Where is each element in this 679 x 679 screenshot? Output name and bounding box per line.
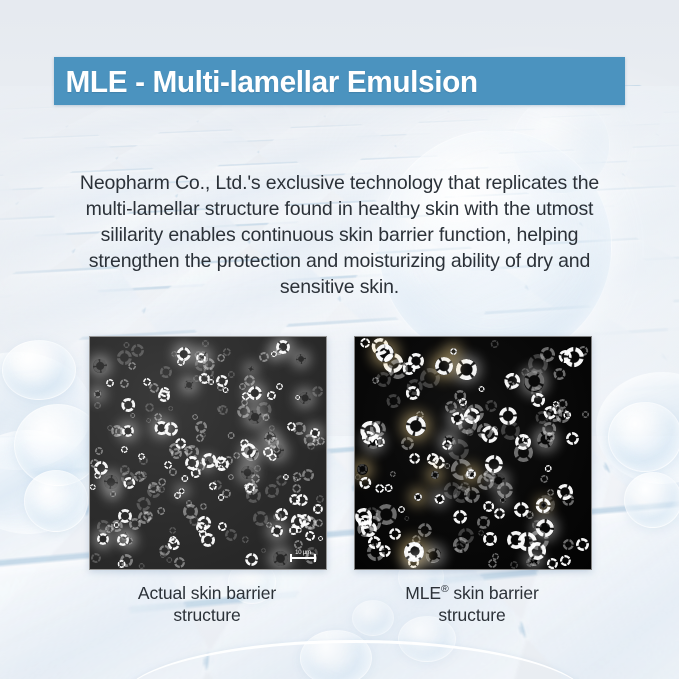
micrograph-particle [174,557,185,568]
micrograph-particle [540,475,548,483]
micrograph-particle [401,437,414,450]
title-banner: MLE - Multi-lamellar Emulsion [54,57,625,105]
micrograph-particle [158,478,166,486]
micrograph-particle [315,519,323,527]
micrograph-particle [118,560,126,568]
micrograph-particle [406,416,426,436]
micrograph-particle [485,400,497,412]
micrograph-particle [241,399,248,406]
caption-left-line1: Actual skin barrier [138,583,276,603]
micrograph-particle [435,357,453,375]
micrograph-particle [111,425,123,437]
micrograph-field-left [90,337,326,569]
micrograph-particle [409,453,420,464]
micrograph-particle [296,527,302,533]
micrograph-particle [491,340,499,348]
micrograph-particle [458,528,474,544]
micrograph-particle [193,375,200,382]
micrograph-particle [114,522,120,528]
micrograph-particle [137,497,151,511]
micrograph-particle [494,508,505,519]
micrograph-particle [90,484,96,490]
micrograph-particle [536,498,551,513]
micrograph-particle [244,484,249,489]
micrograph-particle [445,401,457,413]
micrograph-particle [94,402,101,409]
micrograph-particle [544,406,557,419]
micrograph-particle [228,474,234,480]
micrograph-particle [531,393,545,407]
figure-row: 10 µm [0,336,679,568]
micrograph-particle [537,431,554,448]
micrograph-particle [233,452,240,459]
micrograph-particle [121,398,135,412]
micrograph-particle [316,495,324,503]
micrograph-particle [244,446,259,461]
micrograph-particle [375,484,384,493]
micrograph-field-right [355,337,591,569]
micrograph-particle [212,480,222,490]
micrograph-particle [460,482,470,492]
micrograph-particle [276,383,283,390]
micrograph-particle [259,352,269,362]
description-paragraph: Neopharm Co., Ltd.'s exclusive technolog… [70,170,609,300]
micrograph-particle [117,534,129,546]
micrograph-particle [296,354,306,364]
micrograph-particle [192,414,198,420]
micrograph-particle [515,434,531,450]
micrograph-particle [464,408,480,424]
micrograph-particle [296,494,308,506]
caption-right-prefix: MLE [405,583,441,603]
micrograph-particle [499,407,517,425]
micrograph-particle [264,432,275,443]
micrograph-particle [184,380,194,390]
micrograph-particle [317,437,325,445]
micrograph-particle [547,489,554,496]
scale-bar-line [290,557,316,559]
micrograph-particle [453,510,467,524]
micrograph-particle [218,465,224,471]
micrograph-particle [269,425,275,431]
micrograph-particle [121,446,128,453]
micrograph-particle [191,468,201,478]
micrograph-particle [94,461,108,475]
micrograph-particle [120,379,129,388]
micrograph-particle [562,494,574,506]
micrograph-particle [312,386,323,397]
micrograph-particle [228,432,235,439]
micrograph-particle [218,522,227,531]
micrograph-particle [376,344,394,362]
micrograph-particle [385,484,393,492]
micrograph-particle [239,383,246,390]
micrograph-particle [251,474,260,483]
micrograph-particle [171,448,182,459]
micrograph-particle [130,413,135,418]
micrograph-particle [273,551,288,566]
micrograph-particle [276,348,283,355]
micrograph-particle [376,372,391,387]
micrograph-particle [122,425,134,437]
micrograph-particle [379,545,391,557]
micrograph-particle [293,422,306,435]
micrograph-particle [160,366,172,378]
micrograph-particle [387,394,401,408]
micrograph-particle [408,353,424,369]
micrograph-particle [450,348,457,355]
micrograph-particle [168,406,173,411]
micrograph-particle [524,371,544,391]
micrograph-particle [148,482,159,493]
micrograph-particle [95,447,103,455]
micrograph-particle [389,528,401,540]
micrograph-particle [143,378,151,386]
micrograph-particle [158,390,170,402]
micrograph-particle [578,346,588,356]
micrograph-particle [155,421,169,435]
micrograph-particle [404,516,409,521]
micrograph-particle [208,379,214,385]
caption-right-line2: structure [438,605,505,625]
caption-right: MLE® skin barrier structure [322,582,622,626]
micrograph-particle [357,464,367,474]
micrograph-particle [514,502,529,517]
micrograph-particle [261,548,266,553]
micrograph-particle [199,530,207,538]
caption-left: Actual skin barrier structure [57,582,357,626]
micrograph-particle [576,538,589,551]
micrograph-particle [169,527,176,534]
micrograph-particle [93,359,107,373]
micrograph-particle [359,477,371,489]
micrograph-particle [388,359,408,379]
micrograph-particle [491,426,498,433]
micrograph-particle [560,555,571,566]
micrograph-particle [444,482,461,499]
micrograph-particle [563,411,571,419]
micrograph-particle [528,542,546,560]
micrograph-particle [242,536,249,543]
scale-bar-label: 10 µm [290,549,316,557]
micrograph-particle [200,503,207,510]
micrograph-particle [131,344,144,357]
micrograph-particle [318,536,323,541]
micrograph-particle [444,463,450,469]
micrograph-particle [426,548,441,563]
micrograph-particle [299,392,311,404]
micrograph-particle [483,501,494,512]
micrograph-particle [456,359,477,380]
micrograph-particle [225,529,237,541]
micrograph-particle [360,338,370,348]
micrograph-particle [202,340,209,347]
micrograph-particle [181,475,188,482]
micrograph-particle [104,475,118,489]
micrograph-particle [154,413,162,421]
micrograph-particle [177,358,185,366]
micrograph-particle [479,386,485,392]
micrograph-particle [200,432,206,438]
micrograph-particle [293,477,298,482]
micrograph-particle [483,532,497,546]
micrograph-particle [431,471,439,479]
micrograph-particle [362,431,375,444]
caption-right-suffix: skin barrier [449,583,539,603]
figure-actual-skin-barrier-image: 10 µm [89,336,327,570]
micrograph-particle [506,381,515,390]
micrograph-particle [554,368,566,380]
micrograph-particle [477,516,490,529]
micrograph-particle [179,488,185,494]
micrograph-particle [146,418,151,423]
micrograph-particle [488,559,497,568]
micrograph-particle [196,353,206,363]
micrograph-particle [169,468,177,476]
micrograph-particle [406,386,420,400]
micrograph-particle [157,507,165,515]
micrograph-particle [271,525,283,537]
micrograph-particle [275,508,288,521]
figure-mle-skin-barrier-image [354,336,592,570]
micrograph-particle [121,471,135,485]
micrograph-particle [390,471,396,477]
micrograph-particle [245,553,258,566]
micrograph-particle [510,561,518,569]
micrograph-particle [404,542,424,562]
micrograph-particle [160,552,166,558]
micrograph-particle [582,411,589,418]
micrograph-particle [202,453,217,468]
micrograph-particle [237,405,250,418]
micrograph-particle [270,444,284,458]
micrograph-particle [186,500,192,506]
micrograph-particle [168,538,180,550]
micrograph-particle [139,563,145,569]
registered-trademark-icon: ® [441,583,449,595]
micrograph-particle [294,540,303,549]
micrograph-particle [228,371,235,378]
micrograph-particle [166,557,172,563]
micrograph-particle [129,518,141,530]
micrograph-particle [366,507,378,519]
caption-left-line2: structure [173,605,240,625]
micrograph-particle [106,379,114,387]
poster-canvas: MLE - Multi-lamellar Emulsion Neopharm C… [0,0,679,679]
micrograph-particle [248,386,262,400]
page-title: MLE - Multi-lamellar Emulsion [54,66,478,97]
micrograph-particle [203,367,214,378]
micrograph-particle [145,403,154,412]
micrograph-particle [138,453,145,460]
micrograph-particle [91,553,101,563]
micrograph-particle [184,446,193,455]
micrograph-particle [224,456,233,465]
micrograph-particle [257,402,272,417]
micrograph-particle [305,531,315,541]
micrograph-particle [398,506,405,513]
micrograph-particle [223,348,231,356]
micrograph-particle [197,516,211,530]
micrograph-particle [134,471,145,482]
micrograph-particle [443,435,455,447]
micrograph-particle [124,342,130,348]
micrograph-particle [302,469,314,481]
micrograph-particle [451,459,472,480]
micrograph-particle [313,504,323,514]
micrograph-particle [94,390,102,398]
micrograph-particle [267,391,276,400]
micrograph-particle [218,494,225,501]
micrograph-particle [292,484,301,493]
micrograph-particle [248,366,254,372]
micrograph-particle [545,465,552,472]
micrograph-particle [276,475,287,486]
micrograph-particle [418,523,432,537]
micrograph-particle [528,354,548,374]
micrograph-particle [266,522,272,528]
micrograph-particle [254,465,261,472]
micrograph-particle [497,482,513,498]
micrograph-particle [265,484,279,498]
micrograph-particle [110,491,116,497]
micrograph-particle [304,434,316,446]
micrograph-particle [414,493,422,501]
scale-bar: 10 µm [290,549,316,559]
micrograph-particle [368,536,381,549]
micrograph-particle [563,539,574,550]
micrograph-particle [532,520,542,530]
micrograph-particle [566,432,579,445]
micrograph-particle [547,558,558,569]
micrograph-particle [299,514,311,526]
micrograph-particle [376,504,397,525]
micrograph-particle [117,350,132,365]
micrograph-particle [97,520,110,533]
micrograph-particle [435,494,445,504]
figure-captions: Actual skin barrier structure MLE® skin … [0,582,679,642]
micrograph-particle [97,533,109,545]
